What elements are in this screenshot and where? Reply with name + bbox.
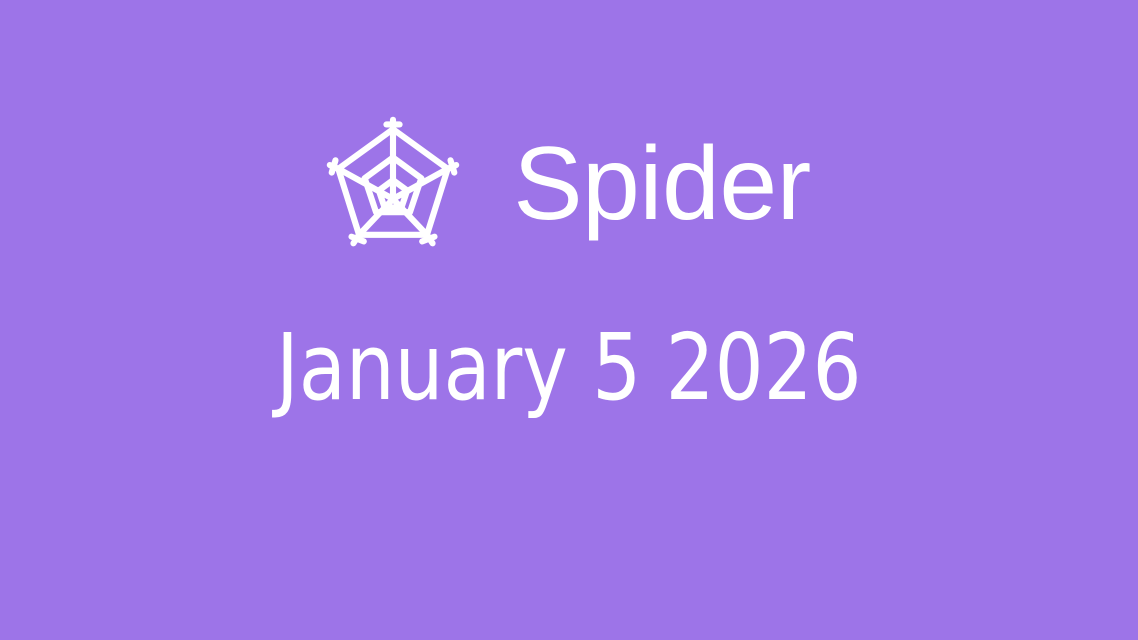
title-row: Spider [0,112,1138,252]
spider-web-icon [327,116,459,248]
date-row: January 5 2026 [0,318,1138,418]
game-date: January 5 2026 [276,322,861,414]
game-title: Spider [513,132,811,236]
splash-screen: Spider January 5 2026 [0,0,1138,640]
